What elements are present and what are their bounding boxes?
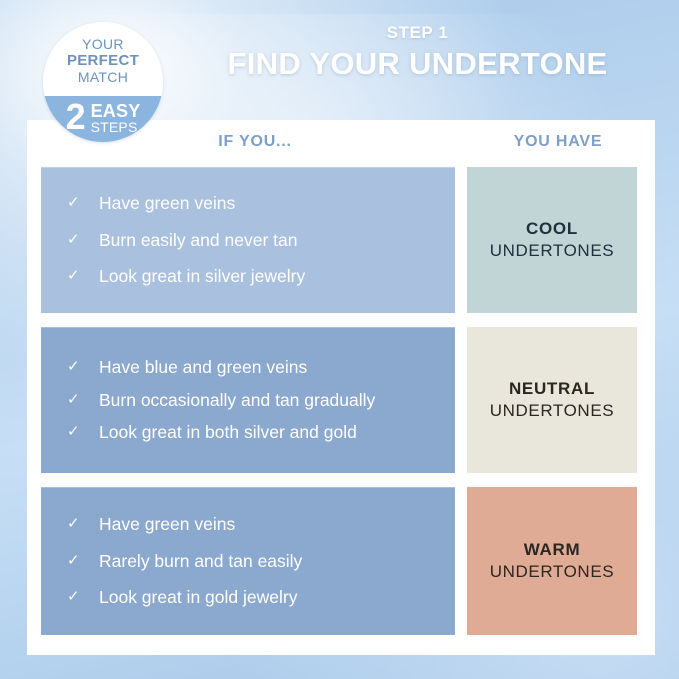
check-icon: ✓ bbox=[67, 389, 99, 410]
list-item: ✓ Rarely burn and tan easily bbox=[67, 543, 455, 580]
criteria-panel-neutral: ✓ Have blue and green veins ✓ Burn occas… bbox=[41, 327, 455, 473]
badge-step-count: 2 bbox=[66, 102, 86, 133]
check-icon: ✓ bbox=[67, 265, 99, 286]
check-icon: ✓ bbox=[67, 229, 99, 250]
list-item-label: Have green veins bbox=[99, 513, 441, 536]
list-item: ✓ Have green veins bbox=[67, 506, 455, 543]
list-item-label: Look great in silver jewelry bbox=[99, 265, 441, 288]
criteria-panel-cool: ✓ Have green veins ✓ Burn easily and nev… bbox=[41, 167, 455, 313]
list-item-label: Burn easily and never tan bbox=[99, 229, 441, 252]
list-item: ✓ Look great in silver jewelry bbox=[67, 258, 455, 295]
table-row: ✓ Have blue and green veins ✓ Burn occas… bbox=[41, 327, 637, 473]
badge-top-half: YOUR PERFECT MATCH bbox=[43, 22, 163, 96]
page-title: FIND YOUR UNDERTONE bbox=[170, 46, 665, 82]
undertone-rows: ✓ Have green veins ✓ Burn easily and nev… bbox=[41, 167, 637, 635]
list-item: ✓ Have blue and green veins bbox=[67, 351, 455, 384]
result-swatch-warm: WARM UNDERTONES bbox=[467, 487, 637, 635]
check-icon: ✓ bbox=[67, 586, 99, 607]
list-item: ✓ Burn easily and never tan bbox=[67, 222, 455, 259]
perfect-match-badge: YOUR PERFECT MATCH 2 EASY STEPS bbox=[43, 22, 163, 142]
result-title: WARM bbox=[524, 540, 581, 561]
list-item-label: Burn occasionally and tan gradually bbox=[99, 389, 441, 412]
result-title: COOL bbox=[526, 219, 578, 240]
badge-bottom-half: 2 EASY STEPS bbox=[43, 96, 163, 142]
list-item-label: Rarely burn and tan easily bbox=[99, 550, 441, 573]
badge-line-your: YOUR bbox=[82, 37, 124, 53]
list-item-label: Look great in gold jewelry bbox=[99, 586, 441, 609]
result-subtitle: UNDERTONES bbox=[490, 401, 614, 422]
result-title: NEUTRAL bbox=[509, 379, 595, 400]
check-icon: ✓ bbox=[67, 513, 99, 534]
check-icon: ✓ bbox=[67, 192, 99, 213]
list-item-label: Have green veins bbox=[99, 192, 441, 215]
badge-line-easy: EASY bbox=[91, 102, 141, 120]
result-subtitle: UNDERTONES bbox=[490, 562, 614, 583]
badge-line-match: MATCH bbox=[78, 70, 128, 86]
criteria-panel-warm: ✓ Have green veins ✓ Rarely burn and tan… bbox=[41, 487, 455, 635]
badge-line-steps: STEPS bbox=[91, 120, 141, 134]
check-icon: ✓ bbox=[67, 550, 99, 571]
badge-easy-steps: EASY STEPS bbox=[91, 102, 141, 134]
badge-line-perfect: PERFECT bbox=[67, 53, 139, 70]
check-icon: ✓ bbox=[67, 356, 99, 377]
result-subtitle: UNDERTONES bbox=[490, 241, 614, 262]
list-item: ✓ Burn occasionally and tan gradually bbox=[67, 384, 455, 417]
list-item-label: Have blue and green veins bbox=[99, 356, 441, 379]
list-item-label: Look great in both silver and gold bbox=[99, 421, 441, 444]
step-label: STEP 1 bbox=[170, 24, 665, 43]
header: STEP 1 FIND YOUR UNDERTONE bbox=[170, 24, 665, 81]
list-item: ✓ Look great in both silver and gold bbox=[67, 416, 455, 449]
check-icon: ✓ bbox=[67, 421, 99, 442]
list-item: ✓ Have green veins bbox=[67, 185, 455, 222]
table-row: ✓ Have green veins ✓ Rarely burn and tan… bbox=[41, 487, 637, 635]
result-swatch-cool: COOL UNDERTONES bbox=[467, 167, 637, 313]
list-item: ✓ Look great in gold jewelry bbox=[67, 579, 455, 616]
column-heading-you-have: YOU HAVE bbox=[467, 133, 649, 151]
table-row: ✓ Have green veins ✓ Burn easily and nev… bbox=[41, 167, 637, 313]
result-swatch-neutral: NEUTRAL UNDERTONES bbox=[467, 327, 637, 473]
